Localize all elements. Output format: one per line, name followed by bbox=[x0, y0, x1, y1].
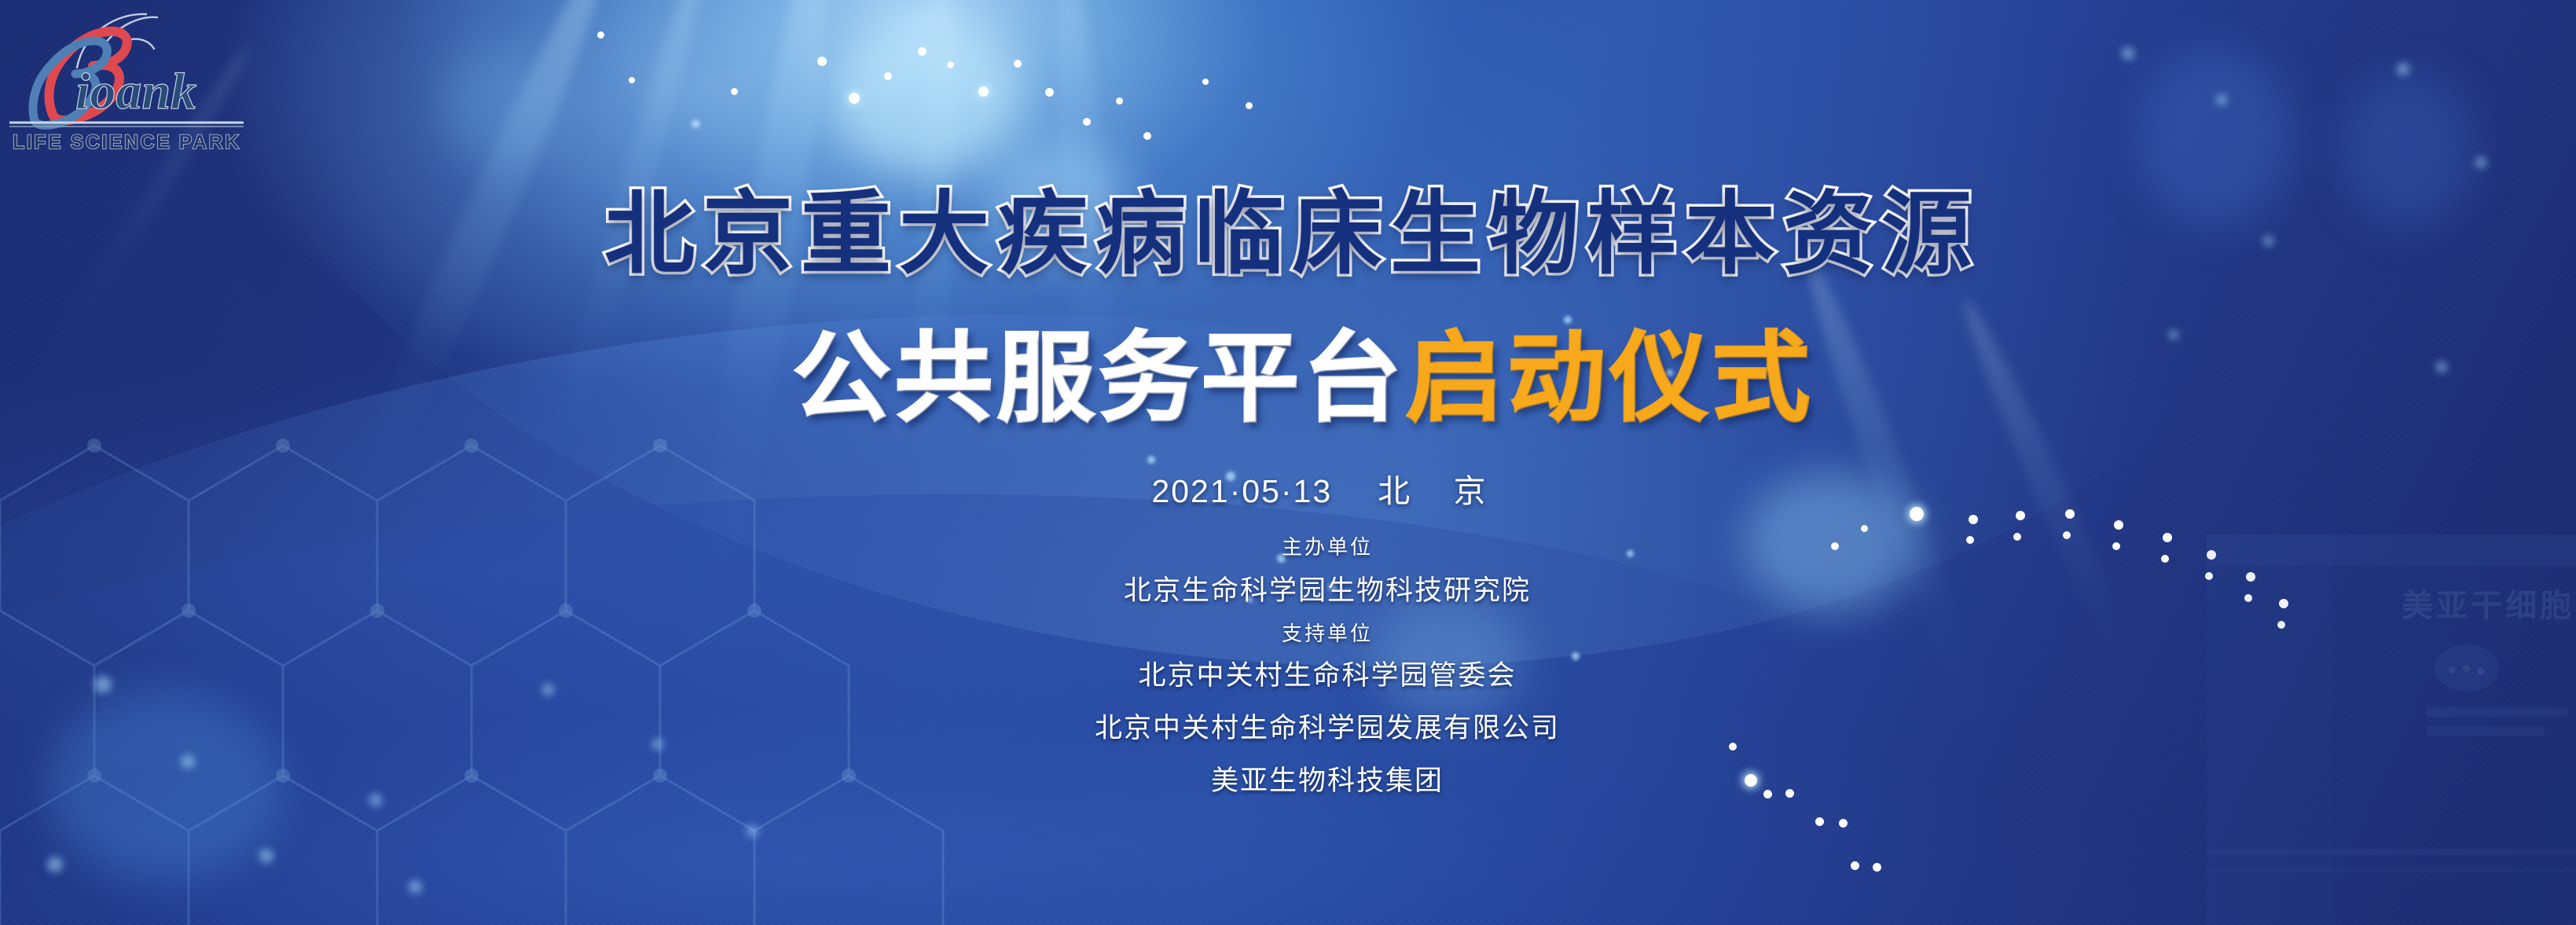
host-label: 主办单位 bbox=[39, 531, 2576, 560]
event-banner: 美亚干细胞 ioank bbox=[0, 0, 2576, 925]
event-city: 北 京 bbox=[1378, 473, 1503, 509]
title-line-1: 北京重大疾病临床生物样本资源 bbox=[4, 161, 2576, 292]
supporter-name-1: 北京中关村生命科学园管委会 bbox=[39, 653, 2576, 693]
supporter-name-2: 北京中关村生命科学园发展有限公司 bbox=[39, 706, 2576, 746]
event-date-location: 2021·05·13北 京 bbox=[39, 464, 2576, 512]
supporter-label: 支持单位 bbox=[39, 618, 2576, 647]
logo-wordmark: ioank bbox=[75, 63, 196, 120]
title-line-2-white: 公共服务平台 bbox=[793, 325, 1406, 433]
host-name: 北京生命科学园生物科技研究院 bbox=[39, 568, 2576, 608]
biobank-logo[interactable]: ioank LIFE SCIENCE PARK bbox=[8, 6, 259, 156]
title-line-2: 公共服务平台启动仪式 bbox=[16, 299, 2576, 440]
logo-tagline: LIFE SCIENCE PARK bbox=[13, 131, 241, 153]
event-date: 2021·05·13 bbox=[1151, 473, 1332, 509]
supporter-name-3: 美亚生物科技集团 bbox=[39, 758, 2576, 798]
title-line-2-gold: 启动仪式 bbox=[1406, 325, 1815, 433]
